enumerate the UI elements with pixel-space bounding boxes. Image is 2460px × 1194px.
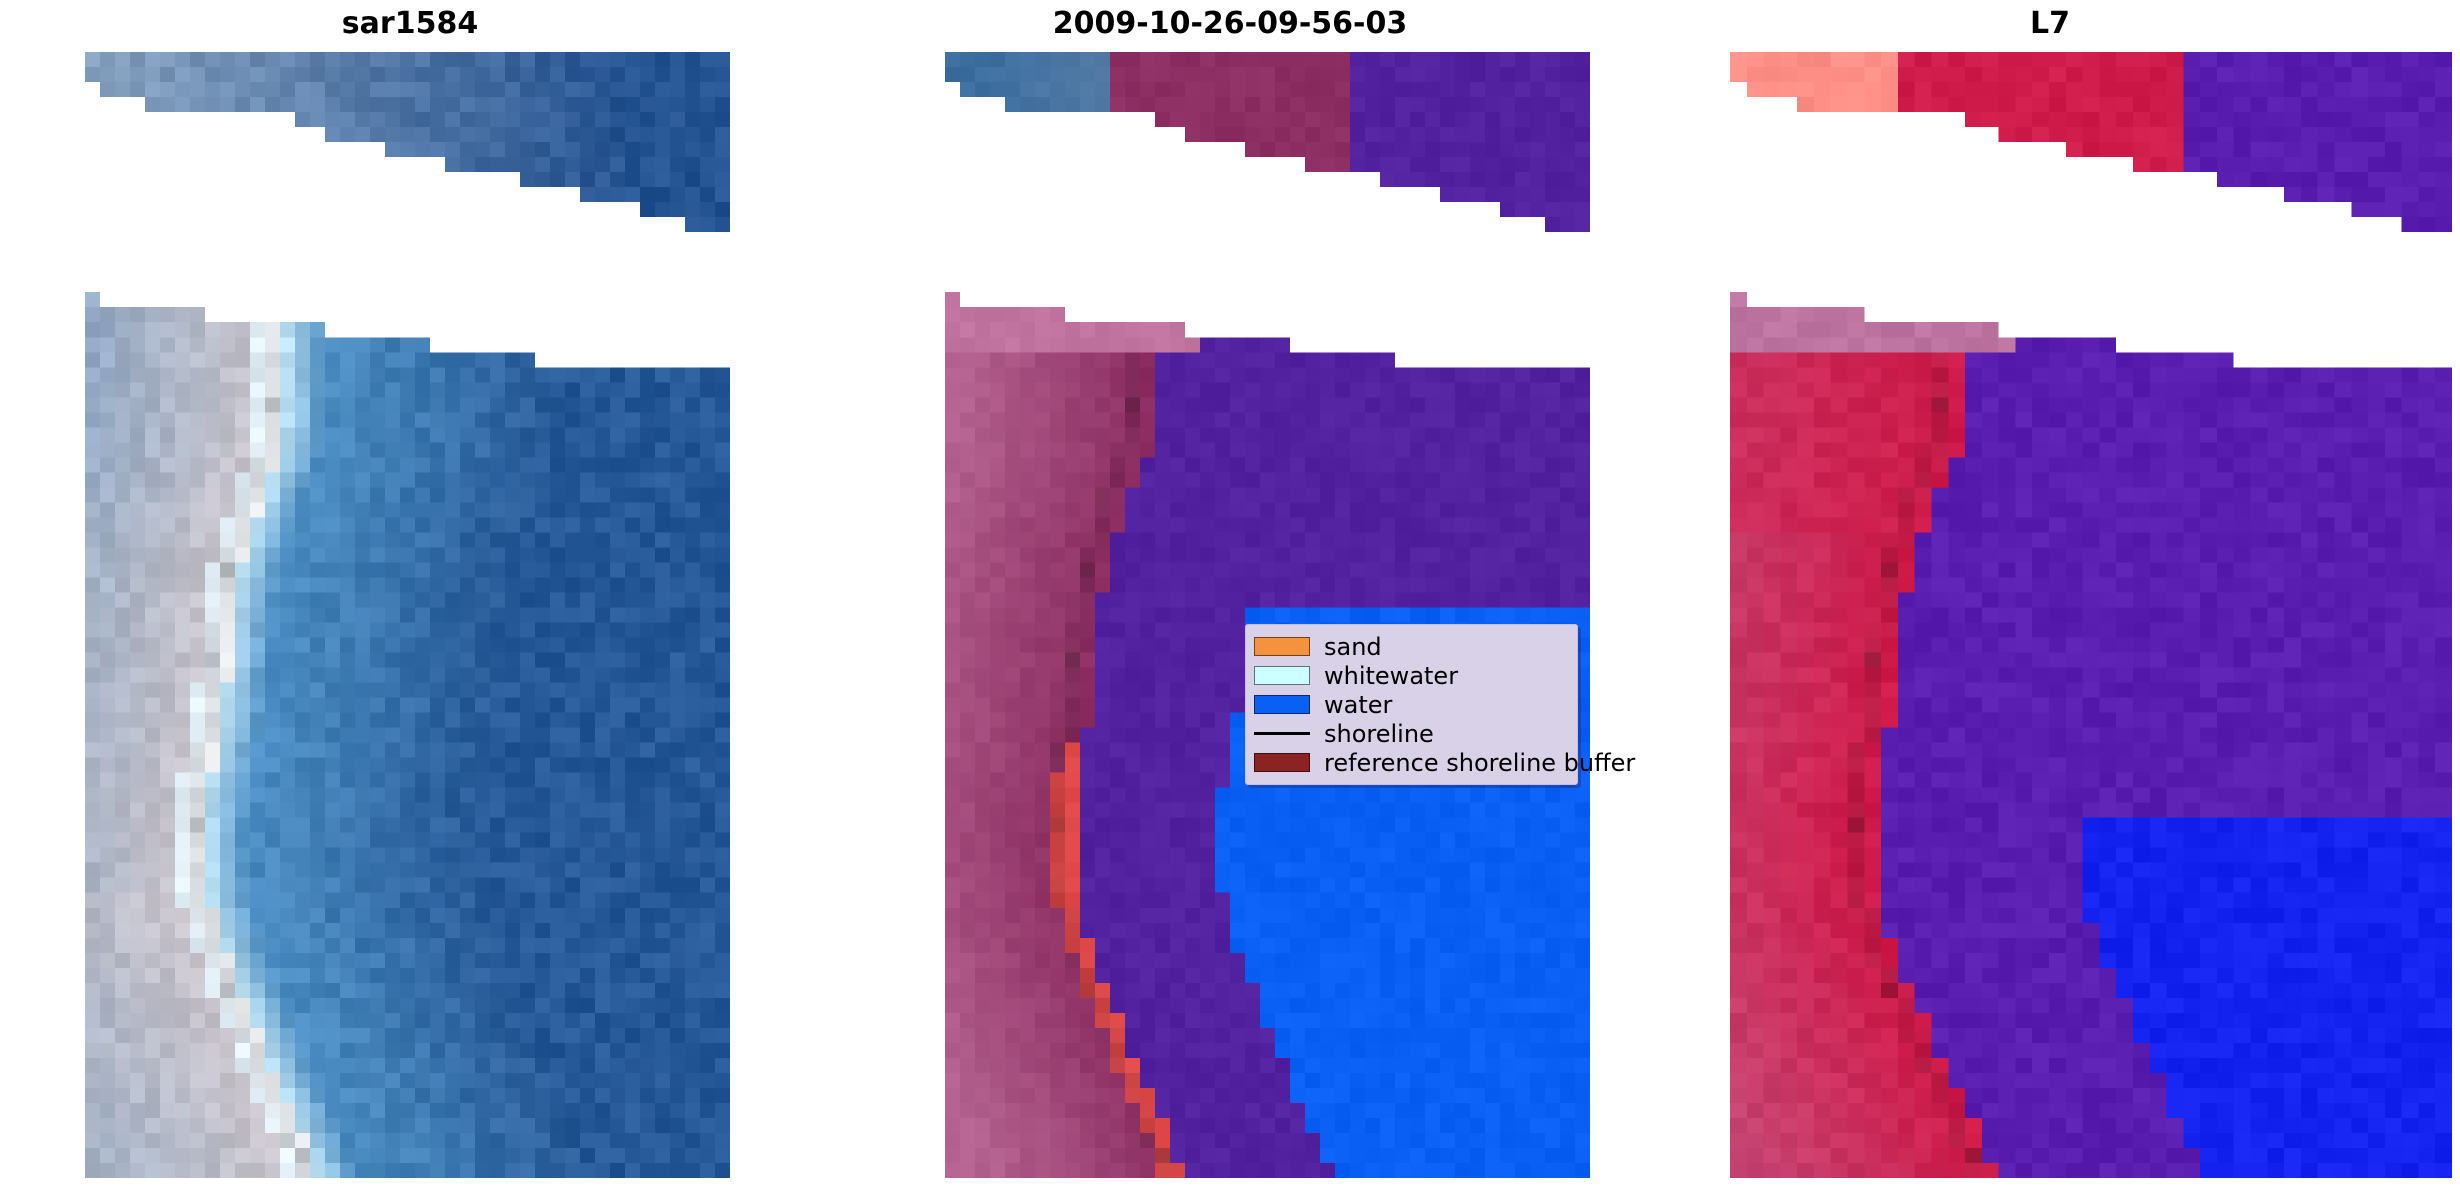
panel-classification: 2009-10-26-09-56-03	[820, 0, 1640, 1194]
legend-item-sand[interactable]: sand	[1254, 632, 1568, 661]
legend-item-whitewater[interactable]: whitewater	[1254, 661, 1568, 690]
shoreline-line-icon	[1254, 724, 1310, 743]
sar-raster	[85, 52, 730, 1178]
classification-raster	[945, 52, 1590, 1178]
figure-canvas: sar1584 2009-10-26-09-56-03 L7 sand whit…	[0, 0, 2460, 1194]
sar-image-axes[interactable]	[85, 52, 730, 1178]
panel-title-l7: L7	[1640, 6, 2460, 41]
classification-image-axes[interactable]	[945, 52, 1590, 1178]
panel-l7: L7	[1640, 0, 2460, 1194]
reference-buffer-swatch-icon	[1254, 753, 1310, 772]
panel-title-classification: 2009-10-26-09-56-03	[820, 6, 1640, 41]
legend-label-reference-buffer: reference shoreline buffer	[1324, 751, 1635, 775]
legend-item-reference-buffer[interactable]: reference shoreline buffer	[1254, 748, 1568, 777]
classification-legend[interactable]: sand whitewater water shoreline referenc…	[1245, 624, 1578, 785]
panel-sar: sar1584	[0, 0, 820, 1194]
legend-label-whitewater: whitewater	[1324, 664, 1458, 688]
l7-image-axes[interactable]	[1730, 52, 2452, 1178]
legend-label-water: water	[1324, 693, 1392, 717]
panel-title-sar: sar1584	[0, 6, 820, 41]
legend-item-water[interactable]: water	[1254, 690, 1568, 719]
legend-label-shoreline: shoreline	[1324, 722, 1434, 746]
legend-label-sand: sand	[1324, 635, 1382, 659]
whitewater-swatch-icon	[1254, 666, 1310, 685]
sand-swatch-icon	[1254, 637, 1310, 656]
legend-item-shoreline[interactable]: shoreline	[1254, 719, 1568, 748]
water-swatch-icon	[1254, 695, 1310, 714]
l7-raster	[1730, 52, 2452, 1178]
